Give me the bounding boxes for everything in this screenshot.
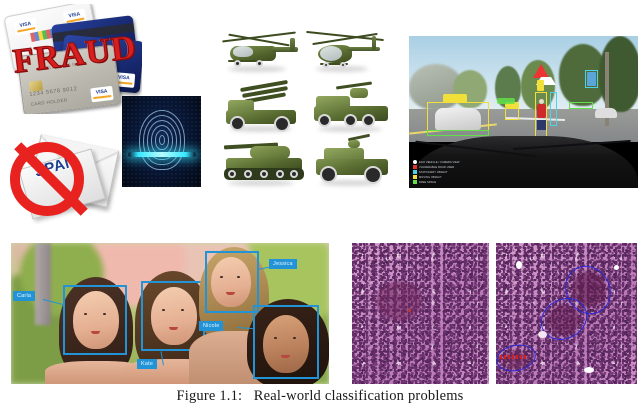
legend-swatch-ego: [413, 160, 417, 164]
legend-swatch-stationary: [413, 170, 417, 174]
toy-missile-launcher-truck: [222, 82, 306, 134]
tissue-void-1: [516, 261, 522, 269]
legend-row: MOVING OBJECT: [413, 175, 481, 179]
panel-fingerprint-biometrics: [122, 96, 201, 187]
annotation-highlight-red: [500, 355, 526, 359]
free-space-tag-mid: [497, 98, 515, 104]
toy-armored-personnel-carrier: [310, 80, 394, 134]
figure-caption-label: Figure 1.1:: [176, 388, 242, 404]
face-box-1: [63, 285, 127, 355]
toy-attack-helicopter: [220, 30, 302, 74]
detection-legend: EGO VEHICLE / CAMERA VIEW VULNERABLE ROA…: [413, 160, 481, 185]
legend-swatch-vru: [413, 165, 417, 169]
legend-label-ego: EGO VEHICLE / CAMERA VIEW: [419, 161, 460, 164]
legend-label-moving: MOVING OBJECT: [419, 176, 442, 179]
face-tag-4: Nicole: [199, 321, 223, 331]
face-box-4: [253, 305, 319, 379]
detected-cyclist-body: [537, 104, 546, 118]
toy-humvee: [312, 134, 394, 188]
toy-scout-helicopter: [306, 28, 390, 74]
figure-caption: Figure 1.1: Real-world classification pr…: [0, 388, 640, 405]
panel-autonomous-driving-detection: EGO VEHICLE / CAMERA VIEW VULNERABLE ROA…: [409, 36, 638, 188]
detected-cyclist-head: [539, 99, 544, 104]
panel-histology-annotated: [496, 243, 637, 384]
legend-row: EGO VEHICLE / CAMERA VIEW: [413, 160, 481, 164]
legend-swatch-freespace: [413, 180, 417, 184]
face-tag-1: Carla: [13, 291, 35, 301]
object-tag-cyclist: [537, 80, 544, 91]
toy-battle-tank: [220, 136, 308, 188]
figure-caption-text: Real-world classification problems: [254, 388, 464, 404]
fingerprint-scan-line: [128, 152, 196, 157]
card-holder-name: CARD HOLDER: [30, 97, 67, 106]
object-tag-car: [443, 94, 467, 103]
face-tag-3: Jessica: [269, 259, 297, 269]
detection-box-car-far: [505, 108, 519, 120]
legend-label-vru: VULNERABLE ROAD USER: [419, 166, 454, 169]
legend-label-freespace: FREE SPACE: [419, 181, 436, 184]
tissue-void-4: [584, 367, 594, 373]
detection-box-sign-post: [550, 92, 557, 126]
panel-credit-card-fraud: VISA VISA VISA VISA BANK CARD 1234 5678 …: [2, 4, 142, 114]
visa-logo-grey: VISA: [90, 86, 114, 103]
tissue-void-2: [614, 265, 619, 270]
free-space-marker-right: [569, 102, 593, 109]
legend-row: FREE SPACE: [413, 180, 481, 184]
detection-box-sign: [585, 70, 598, 88]
detected-car: [435, 108, 481, 130]
parked-car-right: [595, 108, 617, 118]
face-box-3: [205, 251, 259, 313]
tissue-marker-dot: [408, 309, 411, 312]
tissue-void-3: [538, 331, 547, 338]
legend-row: STATIONARY OBJECT: [413, 170, 481, 174]
panel-spam-email: SPAM: [6, 128, 124, 224]
legend-swatch-moving: [413, 175, 417, 179]
legend-row: VULNERABLE ROAD USER: [413, 165, 481, 169]
background-post: [35, 243, 51, 325]
face-tag-2: Kate: [137, 359, 157, 369]
fingerprint-icon: [139, 110, 185, 170]
figure-page: VISA VISA VISA VISA BANK CARD 1234 5678 …: [0, 0, 640, 410]
warning-triangle-icon: [533, 64, 549, 78]
tissue-region-left: [376, 281, 422, 321]
visa-logo-blue2-text: VISA: [118, 75, 130, 81]
panel-military-vehicle-grid: [214, 24, 394, 194]
detected-cyclist-legs: [537, 120, 546, 130]
panel-face-recognition: Carla Kate Jessica Nicole: [11, 243, 329, 384]
tissue-texture-left: [352, 243, 489, 384]
panel-histology-unannotated: [352, 243, 489, 384]
legend-label-stationary: STATIONARY OBJECT: [419, 171, 448, 174]
free-space-marker-left: [427, 130, 489, 136]
